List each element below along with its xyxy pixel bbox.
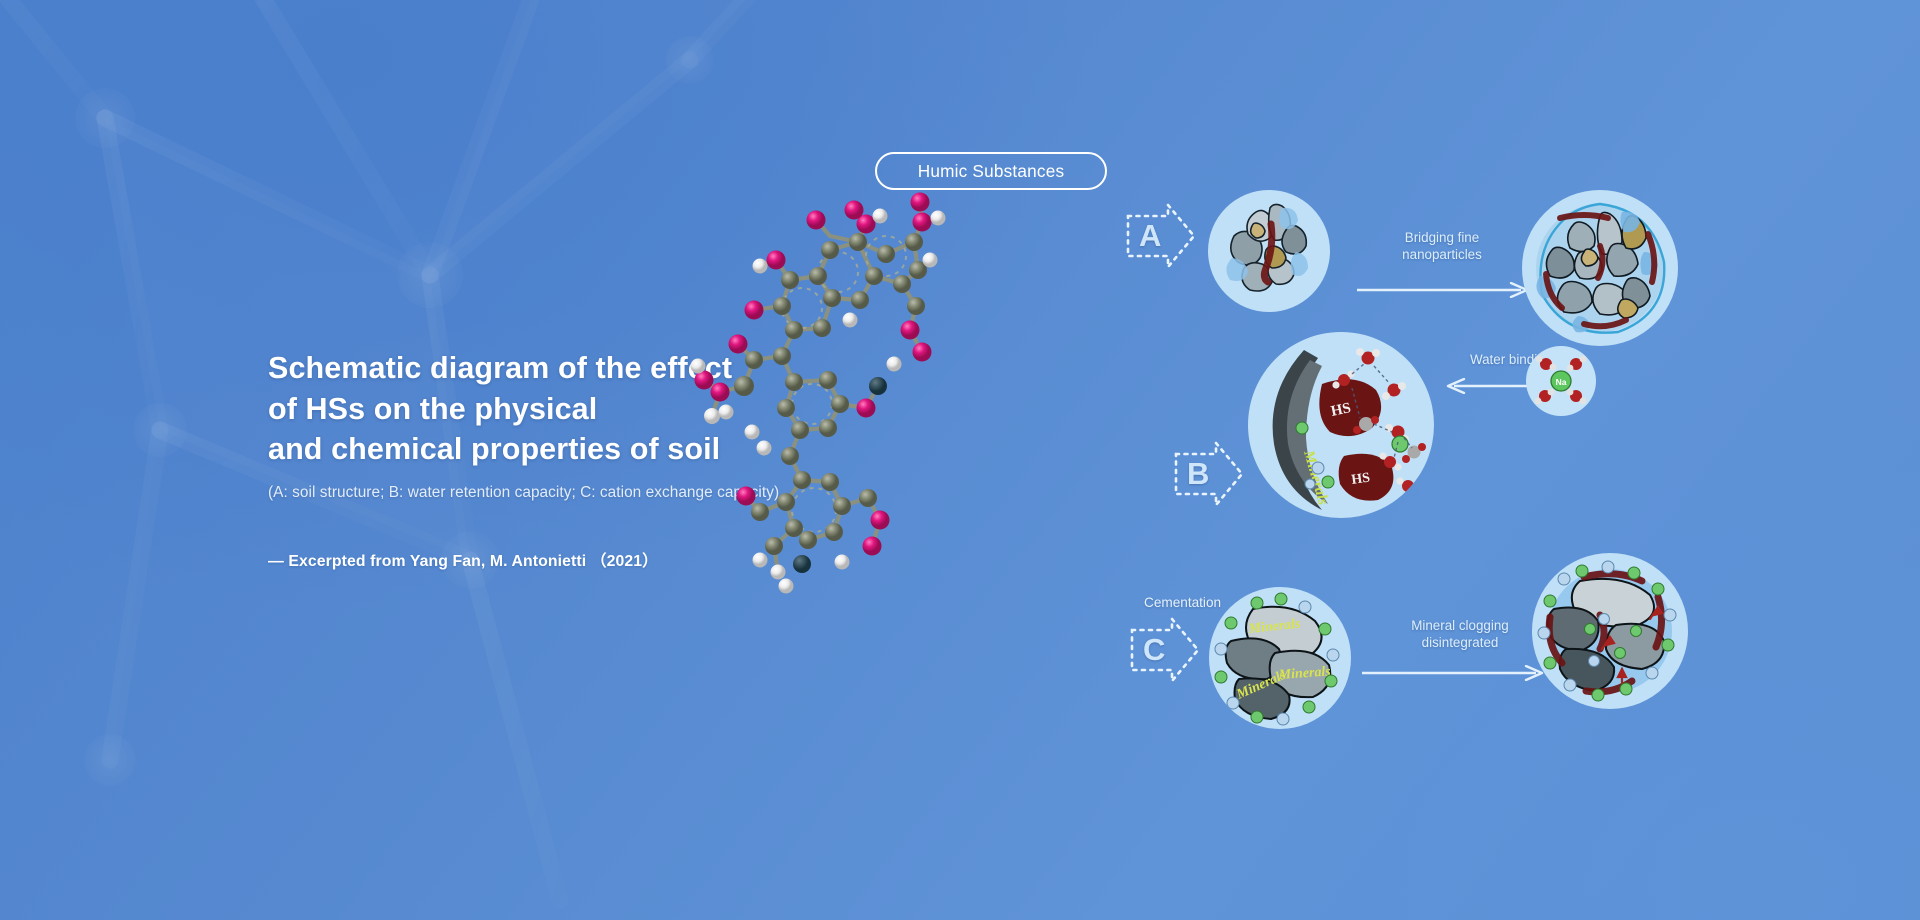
sodium-ion-label: Na: [1556, 377, 1567, 387]
step-letter-c: C: [1128, 614, 1202, 686]
flow-label-bridging-fine-nanoparticles: Bridging fine nanoparticles: [1362, 230, 1522, 264]
step-letter-b: B: [1172, 438, 1246, 510]
flow-arrow-a: [1355, 282, 1535, 298]
step-arrow-c: C: [1128, 614, 1202, 686]
step-arrow-a: A: [1124, 200, 1198, 272]
circle-bridged-soil-aggregate: [1522, 190, 1678, 346]
flow-arrow-c: [1360, 665, 1550, 681]
humic-substance-molecule-model: [690, 180, 990, 600]
flow-label-mineral-clogging-disintegrated: Mineral clogging disintegrated: [1375, 618, 1545, 652]
circle-loose-mineral-aggregate: [1208, 190, 1330, 312]
circle-cemented-minerals: Minerals Minerals Minerals: [1209, 587, 1351, 729]
step-letter-a: A: [1124, 200, 1198, 272]
circle-disintegrated-minerals-with-ions: [1532, 553, 1688, 709]
step-arrow-b: B: [1172, 438, 1246, 510]
circle-hs-mineral-with-water: Minerals HS HS: [1248, 332, 1434, 518]
hs-inline-label-b2: HS: [1350, 470, 1371, 487]
circle-hydrated-sodium-ion: Na: [1526, 346, 1596, 416]
corner-label-cementation: Cementation: [1144, 595, 1221, 610]
